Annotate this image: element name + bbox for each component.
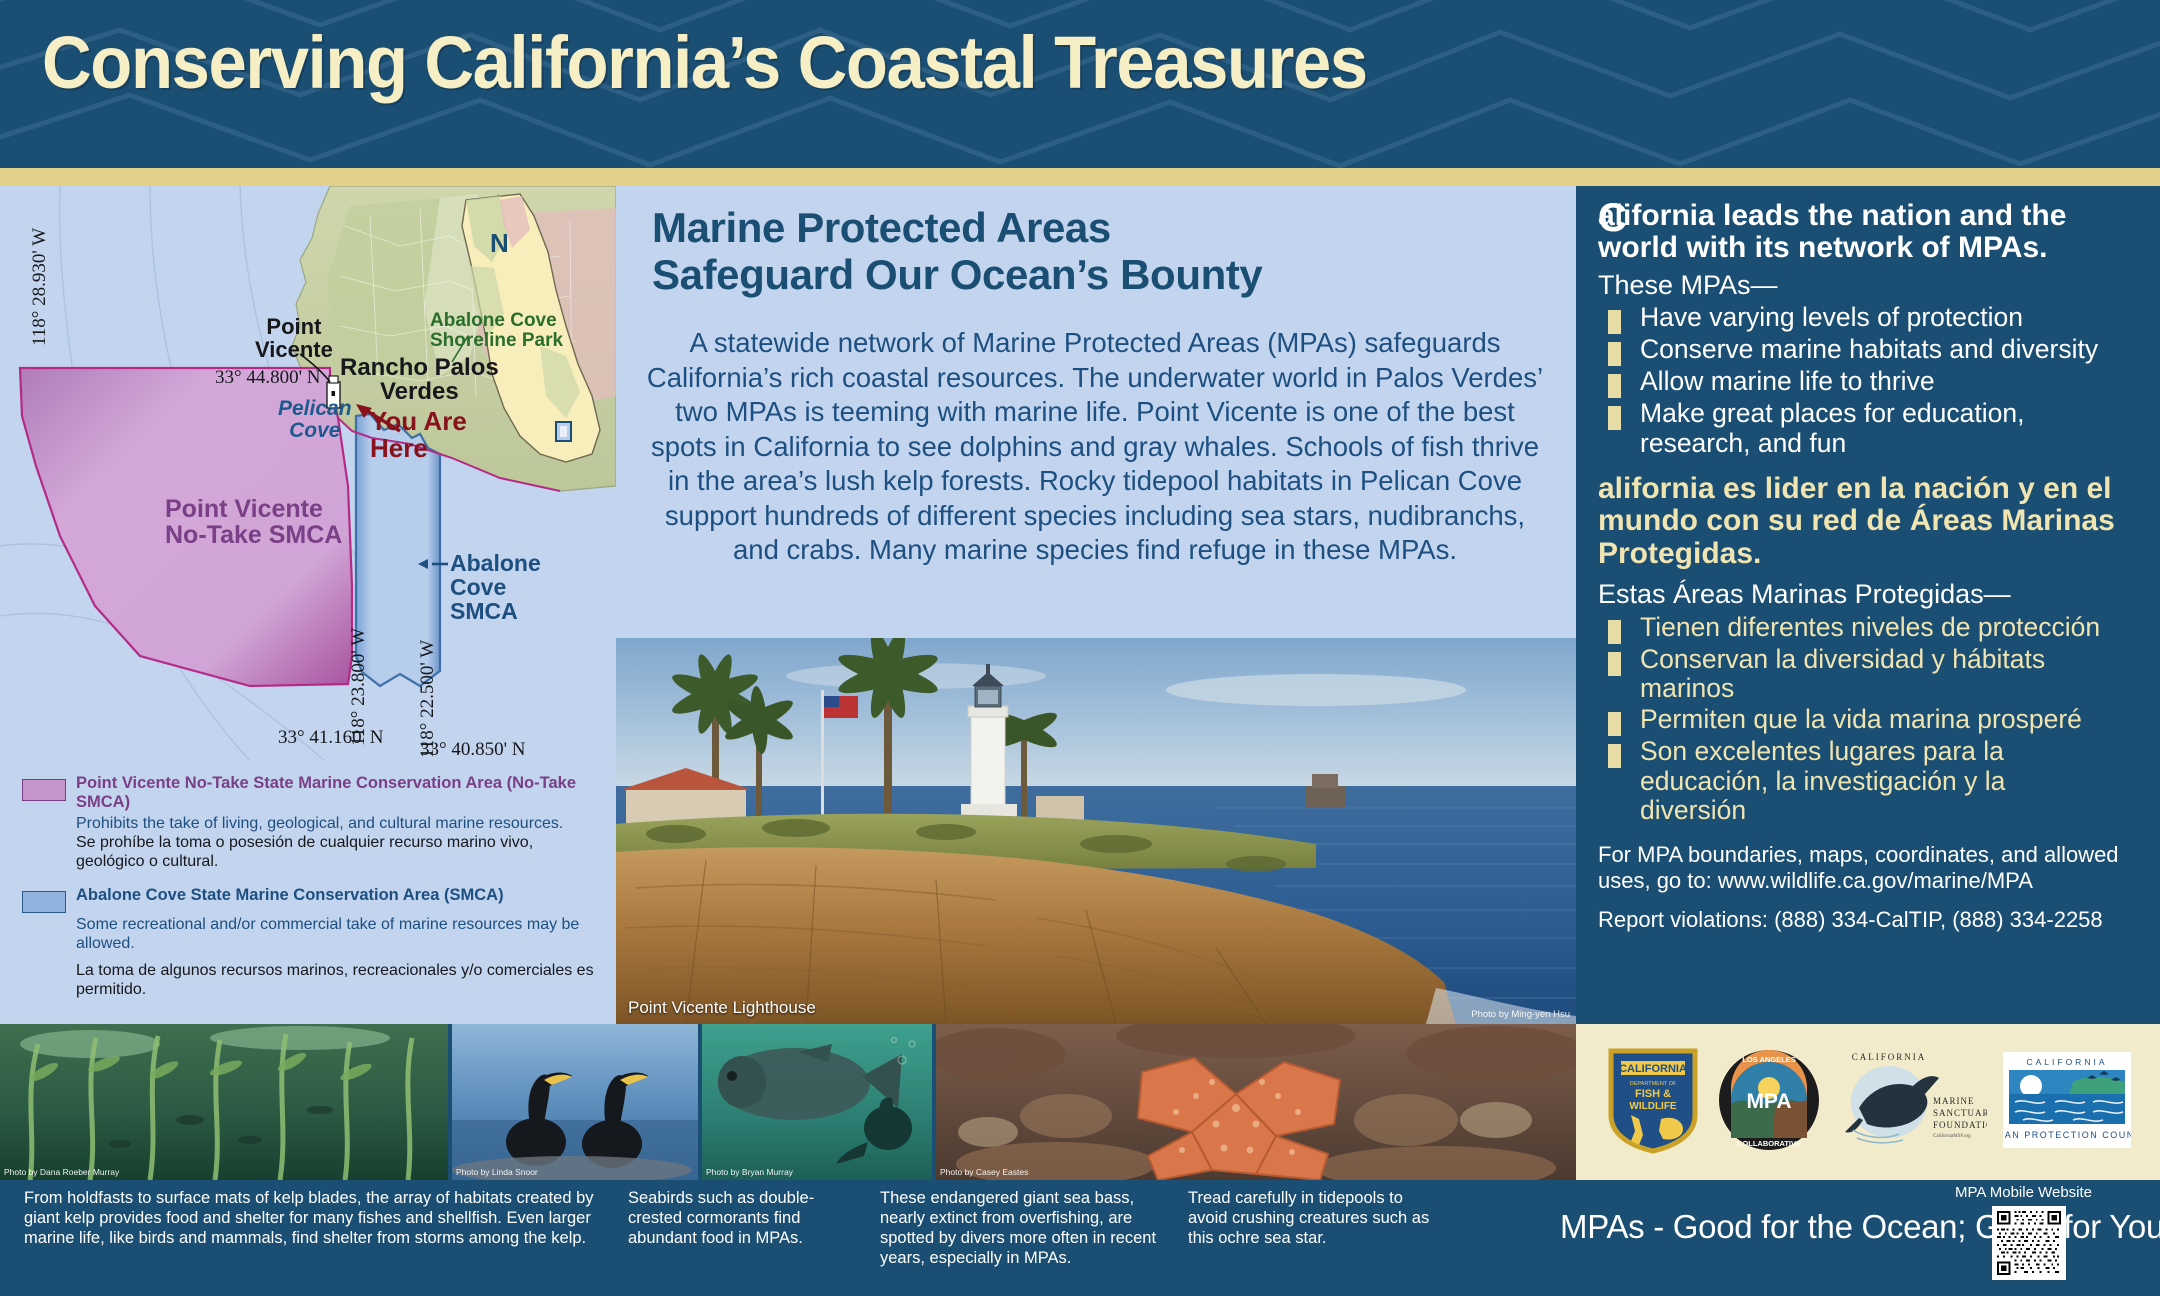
main-heading: Marine Protected Areas Safeguard Our Oce… [652, 204, 1262, 298]
map-label-point-vicente-no-take-smca: Point Vicente No-Take SMCA [165, 496, 342, 549]
photo-strip: Photo by Dana Roeber Murray [0, 1024, 1576, 1180]
map-label-abalone-cove-shoreline-park: Abalone Cove Shoreline Park [430, 311, 563, 351]
sidebar-dropcap-es: C [1598, 194, 1627, 243]
sidebar-heading-en: California leads the nation and the worl… [1598, 200, 2140, 265]
legend-desc-es-no-take: Se prohíbe la toma o posesión de cualqui… [76, 833, 598, 871]
photo-credit-sea-star: Photo by Casey Eastes [940, 1167, 1028, 1177]
sidebar-intro-es: Estas Áreas Marinas Protegidas— [1598, 580, 2140, 610]
sign-footer: From holdfasts to surface mats of kelp b… [0, 1180, 2160, 1296]
photo-credit-sea-bass: Photo by Bryan Murray [706, 1167, 793, 1177]
sidebar-bullet-en-2: Conserve marine habitats and diversity [1598, 335, 2140, 366]
svg-text:WILDLIFE: WILDLIFE [1629, 1101, 1677, 1112]
sidebar-heading-es-text: alifornia es lider en la nación y en el … [1598, 472, 2115, 570]
map-legend: Point Vicente No-Take State Marine Conse… [0, 760, 616, 1024]
qr-code-label: MPA Mobile Website [1955, 1184, 2092, 1201]
sidebar-bullet-es-3-text: Permiten que la vida marina prosperé [1640, 705, 2082, 735]
sidebar-bullet-en-1: Have varying levels of protection [1598, 303, 2140, 334]
sidebar-bullet-es-4: Son excelentes lugares para la educación… [1598, 737, 2140, 826]
legend-item-smca: Abalone Cove State Marine Conservation A… [22, 886, 598, 913]
map-label-rancho-palos-verdes: Rancho Palos Verdes [340, 356, 499, 404]
svg-text:DEPARTMENT OF: DEPARTMENT OF [1630, 1081, 1677, 1087]
map-label-abalone-cove-smca: Abalone Cove SMCA [450, 551, 541, 623]
svg-text:OCEAN PROTECTION COUNCIL: OCEAN PROTECTION COUNCIL [2003, 1130, 2131, 1140]
partner-logos: CALIFORNIA DEPARTMENT OF FISH & WILDLIFE… [1576, 1024, 2160, 1180]
sidebar-bullet-en-4: Make great places for education, researc… [1598, 399, 2140, 458]
qr-code-icon [1997, 1211, 2061, 1275]
legend-desc-es-smca: La toma de algunos recursos marinos, rec… [76, 961, 598, 999]
bullet-square-icon [1608, 310, 1621, 334]
svg-text:CALIFORNIA: CALIFORNIA [1852, 1052, 1927, 1062]
lighthouse-photo-graphic [616, 638, 1576, 1024]
lighthouse-photo: Point Vicente Lighthouse Photo by Ming-y… [616, 638, 1576, 1024]
map-graphic [0, 186, 616, 786]
caption-cormorants: Seabirds such as double-crested cormoran… [628, 1188, 864, 1248]
sidebar-bullet-en-3: Allow marine life to thrive [1598, 367, 2140, 398]
photo-credit-cormorants: Photo by Linda Snoor [456, 1167, 538, 1177]
sidebar-bullet-en-1-text: Have varying levels of protection [1640, 303, 2023, 333]
sidebar-intro-en: These MPAs— [1598, 271, 2140, 301]
logo-california-ocean-protection-council: CALIFORNIA OCEAN PROTECTION COUNCIL [2003, 1052, 2131, 1153]
svg-text:CALIFORNIA: CALIFORNIA [2026, 1057, 2107, 1067]
svg-text:FOUNDATION: FOUNDATION [1933, 1120, 1987, 1130]
cormorants-graphic [452, 1024, 702, 1180]
svg-text:COLLABORATIVE: COLLABORATIVE [1737, 1139, 1801, 1148]
legend-title-no-take: Point Vicente No-Take State Marine Conse… [76, 774, 576, 812]
bullet-square-icon [1608, 406, 1621, 430]
sidebar-bullet-es-3: Permiten que la vida marina prosperé [1598, 705, 2140, 736]
svg-text:CaliforniaMSF.org: CaliforniaMSF.org [1933, 1134, 1971, 1139]
logo-california-marine-sanctuary-foundation: CALIFORNIA MARINE SANCTUARY FOUNDATION C… [1837, 1048, 1987, 1157]
svg-text:LOS ANGELES: LOS ANGELES [1742, 1055, 1795, 1064]
legend-swatch-blue [22, 891, 66, 913]
ochre-sea-star-graphic [936, 1024, 1576, 1180]
photo-credit-kelp: Photo by Dana Roeber Murray [4, 1167, 119, 1177]
map-coord-north-top: 33° 44.800' N [215, 368, 321, 388]
legend-desc-en-no-take: Prohibits the take of living, geological… [76, 814, 598, 833]
giant-sea-bass-graphic [702, 1024, 936, 1180]
svg-text:MARINE: MARINE [1933, 1096, 1975, 1106]
bullet-square-icon [1608, 744, 1621, 768]
map-label-you-are-here: You Are Here [370, 408, 467, 461]
qr-code[interactable] [1992, 1206, 2066, 1280]
bullet-square-icon [1608, 652, 1621, 676]
bullet-square-icon [1608, 620, 1621, 644]
page-title: Conserving California’s Coastal Treasure… [42, 20, 1367, 105]
bullet-square-icon [1608, 712, 1621, 736]
sidebar-bullet-es-1: Tienen diferentes niveles de protección [1598, 613, 2140, 644]
header-gold-rule [0, 168, 2160, 186]
photo-giant-sea-bass: Photo by Bryan Murray [702, 1024, 936, 1180]
sidebar-bullet-es-4-text: Son excelentes lugares para la educación… [1640, 737, 2095, 826]
sidebar-bullet-en-3-text: Allow marine life to thrive [1640, 367, 1935, 397]
map-coord-west-left: 118° 28.930' W [30, 228, 50, 346]
lighthouse-photo-credit: Photo by Ming-yen Hsu [1471, 1009, 1570, 1020]
sidebar-website-info[interactable]: For MPA boundaries, maps, coordinates, a… [1598, 842, 2140, 893]
svg-text:FISH &: FISH & [1635, 1088, 1671, 1100]
legend-swatch-purple [22, 779, 66, 801]
legend-title-smca: Abalone Cove State Marine Conservation A… [76, 886, 576, 905]
main-heading-line1: Marine Protected Areas [652, 204, 1262, 251]
sidebar-bullet-es-2-text: Conservan la diversidad y hábitats marin… [1640, 645, 2080, 704]
sidebar-heading-en-text: alifornia leads the nation and the world… [1598, 199, 2066, 264]
bullet-square-icon [1608, 374, 1621, 398]
main-content-column: Marine Protected Areas Safeguard Our Oce… [616, 186, 1576, 1024]
bullet-square-icon [1608, 342, 1621, 366]
svg-text:MPA: MPA [1746, 1090, 1791, 1113]
kelp-forest-graphic [0, 1024, 452, 1180]
sidebar-bullet-en-4-text: Make great places for education, researc… [1640, 399, 2090, 458]
svg-text:SANCTUARY: SANCTUARY [1933, 1108, 1987, 1118]
legend-item-no-take: Point Vicente No-Take State Marine Conse… [22, 774, 598, 812]
lighthouse-photo-caption: Point Vicente Lighthouse [628, 998, 816, 1018]
caption-kelp: From holdfasts to surface mats of kelp b… [24, 1188, 624, 1248]
main-body-text: A statewide network of Marine Protected … [640, 326, 1550, 568]
photo-cormorants: Photo by Linda Snoor [452, 1024, 702, 1180]
logo-los-angeles-mpa-collaborative: LOS ANGELES MPA COLLABORATIVE [1717, 1048, 1821, 1157]
logo-california-fish-wildlife: CALIFORNIA DEPARTMENT OF FISH & WILDLIFE [1605, 1045, 1701, 1160]
map-coord-west-mid: 118° 23.800' W [349, 628, 369, 746]
sidebar-heading-es: California es lider en la nación y en el… [1598, 473, 2140, 570]
photo-ochre-sea-star: Photo by Casey Eastes [936, 1024, 1576, 1180]
svg-text:CALIFORNIA: CALIFORNIA [1619, 1063, 1687, 1075]
info-sidebar: California leads the nation and the worl… [1576, 186, 2160, 1024]
sidebar-bullet-en-2-text: Conserve marine habitats and diversity [1640, 335, 2098, 365]
photo-kelp-forest: Photo by Dana Roeber Murray [0, 1024, 452, 1180]
map-north-letter: N [490, 230, 509, 257]
legend-desc-en-smca: Some recreational and/or commercial take… [76, 915, 598, 953]
interpretive-sign: Conserving California’s Coastal Treasure… [0, 0, 2160, 1296]
sidebar-report-violations: Report violations: (888) 334-CalTIP, (88… [1598, 907, 2140, 933]
footer-tagline: MPAs - Good for the Ocean; Good for You! [1560, 1208, 2160, 1246]
caption-sea-bass: These endangered giant sea bass, nearly … [880, 1188, 1170, 1269]
map-label-point-vicente: Point Vicente [255, 316, 333, 362]
map-label-pelican-cove: Pelican Cove [278, 398, 352, 442]
sign-header: Conserving California’s Coastal Treasure… [0, 0, 2160, 168]
caption-sea-star: Tread carefully in tidepools to avoid cr… [1188, 1188, 1438, 1248]
sidebar-bullet-es-1-text: Tienen diferentes niveles de protección [1640, 613, 2100, 643]
map-coord-west-right: 118° 22.500' W [418, 640, 438, 758]
main-heading-line2: Safeguard Our Ocean’s Bounty [652, 251, 1262, 298]
sidebar-bullet-es-2: Conservan la diversidad y hábitats marin… [1598, 645, 2140, 704]
